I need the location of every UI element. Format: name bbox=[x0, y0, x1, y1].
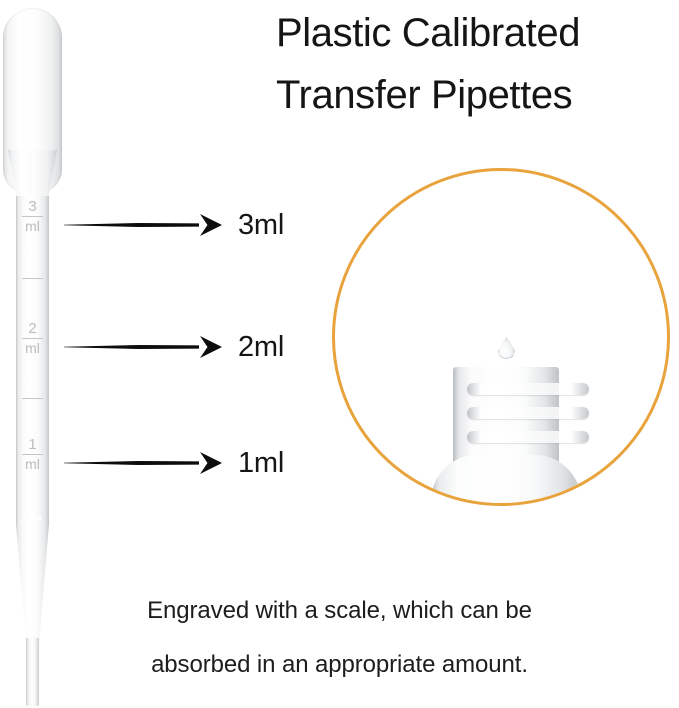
graduation-divider bbox=[22, 338, 43, 339]
bottle-neck bbox=[453, 367, 559, 463]
graduation-value: 2 bbox=[16, 320, 49, 337]
liquid-droplet bbox=[498, 337, 515, 359]
callout-label: 2ml bbox=[238, 331, 284, 364]
callout-2ml: 2ml bbox=[64, 327, 284, 367]
arrow-right-icon bbox=[200, 336, 222, 358]
pipette-stem bbox=[16, 196, 49, 526]
graduation-mark-3ml: 3 ml bbox=[16, 198, 49, 235]
bottle-thread bbox=[467, 431, 589, 443]
graduation-tick-1-5 bbox=[22, 398, 43, 399]
title-line-2: Transfer Pipettes bbox=[276, 64, 676, 126]
callout-3ml: 3ml bbox=[64, 205, 284, 245]
caption: Engraved with a scale, which can be abso… bbox=[0, 584, 679, 692]
arrow-shaft bbox=[64, 460, 199, 466]
graduation-unit: ml bbox=[16, 340, 49, 357]
graduation-value: 1 bbox=[16, 436, 49, 453]
page-title: Plastic Calibrated Transfer Pipettes bbox=[276, 2, 676, 126]
callout-1ml: 1ml bbox=[64, 443, 284, 483]
inset-clip bbox=[335, 171, 667, 503]
graduation-mark-1ml: 1 ml bbox=[16, 436, 49, 473]
callout-label: 3ml bbox=[238, 209, 284, 242]
arrow-shaft bbox=[64, 344, 199, 350]
inset-bottle bbox=[431, 367, 581, 503]
pipette-highlight bbox=[22, 516, 42, 521]
graduation-divider bbox=[22, 216, 43, 217]
graduation-tick-2-5 bbox=[22, 278, 43, 279]
graduation-mark-2ml: 2 ml bbox=[16, 320, 49, 357]
bottle-thread bbox=[467, 407, 589, 419]
caption-line-2: absorbed in an appropriate amount. bbox=[0, 638, 679, 692]
graduation-divider bbox=[22, 454, 43, 455]
product-inset-photo bbox=[332, 168, 670, 506]
arrow-right-icon bbox=[200, 452, 222, 474]
graduation-unit: ml bbox=[16, 456, 49, 473]
inset-pipette-body bbox=[335, 174, 394, 277]
graduation-unit: ml bbox=[16, 218, 49, 235]
callout-label: 1ml bbox=[238, 447, 284, 480]
title-line-1: Plastic Calibrated bbox=[276, 2, 676, 64]
arrow-right-icon bbox=[200, 214, 222, 236]
arrow-shaft bbox=[64, 222, 199, 228]
graduation-value: 3 bbox=[16, 198, 49, 215]
bottle-thread bbox=[467, 383, 589, 395]
caption-line-1: Engraved with a scale, which can be bbox=[0, 584, 679, 638]
bottle-shoulder bbox=[431, 455, 581, 503]
